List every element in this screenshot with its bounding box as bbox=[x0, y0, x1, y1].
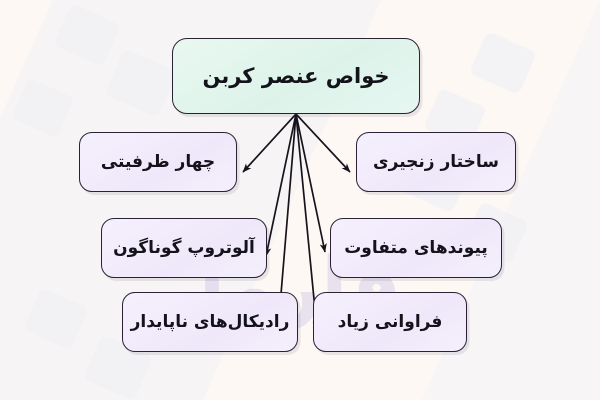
arrow-to-allotropes bbox=[266, 114, 296, 256]
node-branch-allotropes[interactable]: آلوتروپ گوناگون bbox=[101, 218, 267, 278]
node-branch-unstable-radicals[interactable]: رادیکال‌های ناپایدار bbox=[122, 292, 298, 352]
arrow-to-chain-structure bbox=[296, 114, 350, 172]
node-branch-different-bonds[interactable]: پیوندهای متفاوت bbox=[330, 218, 502, 278]
node-branch-tetravalent-label: چهار ظرفیتی bbox=[95, 152, 221, 172]
node-branch-unstable-radicals-label: رادیکال‌های ناپایدار bbox=[125, 312, 296, 332]
node-branch-allotropes-label: آلوتروپ گوناگون bbox=[107, 238, 261, 258]
node-branch-high-abundance-label: فراوانی زیاد bbox=[332, 312, 449, 332]
arrow-to-tetravalent bbox=[243, 114, 296, 172]
arrow-to-different-bonds bbox=[296, 114, 325, 252]
node-branch-chain-structure-label: ساختار زنجیری bbox=[367, 152, 505, 172]
node-branch-different-bonds-label: پیوندهای متفاوت bbox=[338, 238, 494, 258]
node-root-label: خواص عنصر کربن bbox=[196, 64, 395, 88]
node-root[interactable]: خواص عنصر کربن bbox=[172, 38, 420, 114]
node-branch-high-abundance[interactable]: فراوانی زیاد bbox=[313, 292, 467, 352]
node-branch-chain-structure[interactable]: ساختار زنجیری bbox=[356, 132, 516, 192]
node-branch-tetravalent[interactable]: چهار ظرفیتی bbox=[79, 132, 237, 192]
mind-map-diagram: فارما خواص عنصر کربن چهار ظرفیتی ساختار … bbox=[0, 0, 600, 400]
